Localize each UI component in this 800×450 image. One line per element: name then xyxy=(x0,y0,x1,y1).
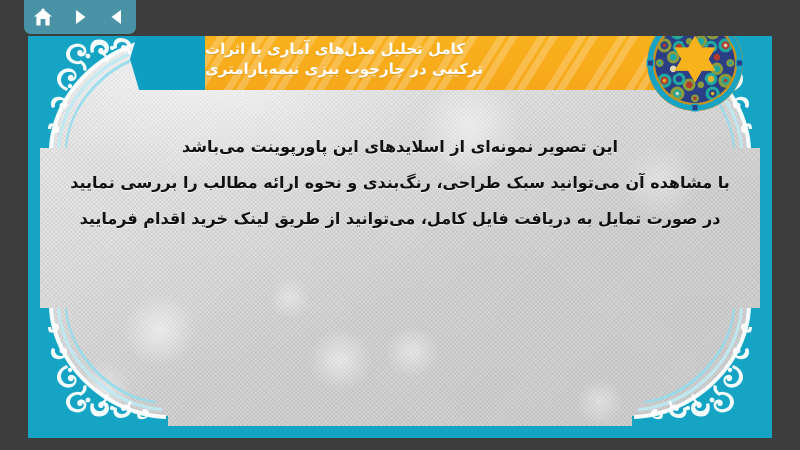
body-line-3: در صورت تمایل به دریافت فایل کامل، می‌تو… xyxy=(58,208,742,230)
previous-slide-button[interactable] xyxy=(102,3,132,31)
slide-title-line-1: کامل تحلیل مدل‌های آماری با اثرات xyxy=(205,39,465,59)
slide-canvas: کامل تحلیل مدل‌های آماری با اثرات ترکیبی… xyxy=(28,18,772,438)
home-button[interactable] xyxy=(28,3,58,31)
slide-body-text: این تصویر نمونه‌ای از اسلایدهای این پاور… xyxy=(28,136,772,244)
slide-title-line-2: ترکیبی در چارچوب بیزی نیمه‌پارامتری xyxy=(205,59,483,79)
triangle-right-icon xyxy=(71,8,89,26)
home-icon xyxy=(33,8,53,27)
triangle-left-icon xyxy=(108,8,126,26)
top-navigation-bar xyxy=(0,0,800,36)
body-line-2: با مشاهده آن می‌توانید سبک طراحی، رنگ‌بن… xyxy=(58,172,742,194)
nav-button-group xyxy=(24,0,136,34)
next-slide-button[interactable] xyxy=(65,3,95,31)
body-line-1: این تصویر نمونه‌ای از اسلایدهای این پاور… xyxy=(58,136,742,158)
slide-viewer: کامل تحلیل مدل‌های آماری با اثرات ترکیبی… xyxy=(0,0,800,450)
